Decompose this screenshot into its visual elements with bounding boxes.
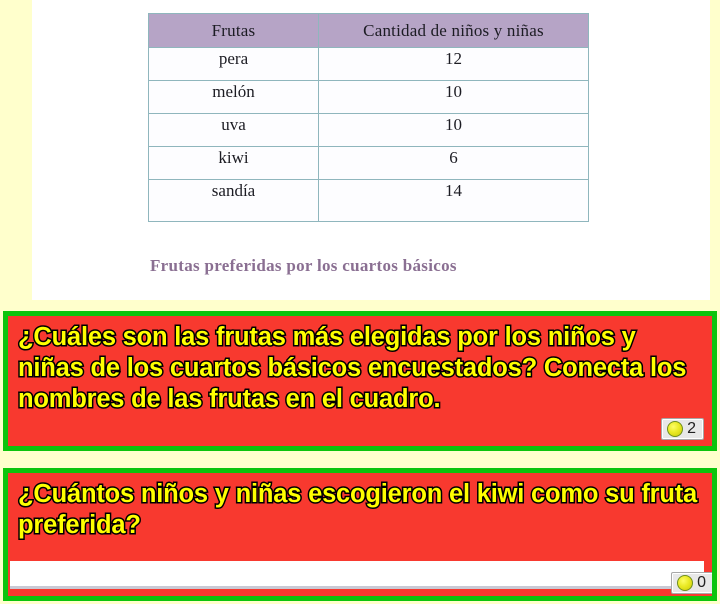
- question-block-2: ¿Cuántos niños y niñas escogieron el kiw…: [3, 468, 717, 601]
- answer-input[interactable]: [10, 561, 704, 589]
- document-area: Frutas Cantidad de niños y niñas pera 12…: [32, 0, 710, 300]
- answer-input-area: [8, 559, 712, 596]
- table-header-row: Frutas Cantidad de niños y niñas: [149, 14, 589, 48]
- table-caption: Frutas preferidas por los cuartos básico…: [150, 256, 457, 276]
- table-row: kiwi 6: [149, 147, 589, 180]
- score-value: 0: [697, 575, 706, 591]
- score-badge-question-2: 0: [671, 572, 714, 594]
- cell-fruit-count: 12: [319, 48, 589, 81]
- question-1-text: ¿Cuáles son las frutas más elegidas por …: [8, 316, 712, 415]
- cell-fruit-count: 14: [319, 180, 589, 222]
- cell-fruit-count: 10: [319, 81, 589, 114]
- cell-fruit-name: sandía: [149, 180, 319, 222]
- fruit-survey-table: Frutas Cantidad de niños y niñas pera 12…: [148, 13, 589, 222]
- score-dot-icon: [667, 421, 683, 437]
- column-header-count: Cantidad de niños y niñas: [319, 14, 589, 48]
- table-row: uva 10: [149, 114, 589, 147]
- table-row: melón 10: [149, 81, 589, 114]
- table-row: sandía 14: [149, 180, 589, 222]
- cell-fruit-name: melón: [149, 81, 319, 114]
- cell-fruit-count: 6: [319, 147, 589, 180]
- question-block-1: ¿Cuáles son las frutas más elegidas por …: [3, 311, 717, 451]
- score-dot-icon: [677, 575, 693, 591]
- cell-fruit-name: uva: [149, 114, 319, 147]
- cell-fruit-count: 10: [319, 114, 589, 147]
- question-2-text: ¿Cuántos niños y niñas escogieron el kiw…: [8, 473, 712, 541]
- cell-fruit-name: kiwi: [149, 147, 319, 180]
- cell-fruit-name: pera: [149, 48, 319, 81]
- table-row: pera 12: [149, 48, 589, 81]
- score-badge-question-1: 2: [661, 418, 704, 440]
- score-value: 2: [687, 421, 696, 437]
- column-header-fruit: Frutas: [149, 14, 319, 48]
